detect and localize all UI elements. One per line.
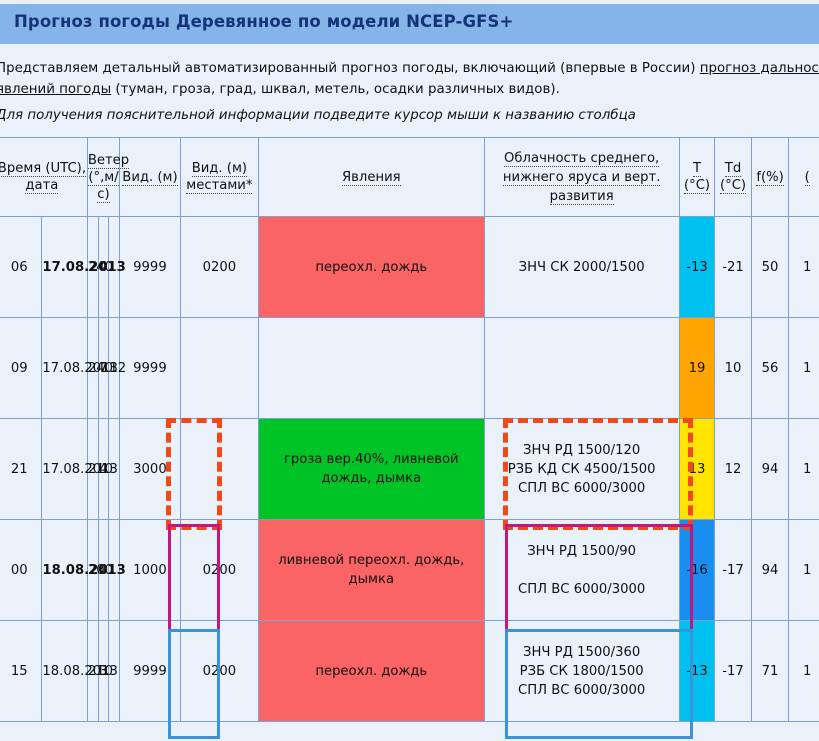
- cell-visibility: 9999: [120, 318, 181, 419]
- cell-phenomena: гроза вер.40%, ливневой дождь, дымка: [259, 419, 485, 520]
- cell-date: 18.08.2013: [42, 621, 87, 722]
- cell-phenomena: [259, 318, 485, 419]
- cell-visibility-places: 0200: [180, 621, 258, 722]
- header-row: Время (UTC), дата Ветер (°,м/с) Вид. (м)…: [0, 138, 819, 217]
- cloud-line: ЗНЧ СК 2000/1500: [485, 258, 679, 277]
- cell-pressure: 1: [789, 217, 819, 318]
- cell-temperature: -13: [679, 217, 714, 318]
- visibility-forecast-link[interactable]: прогноз дальности ви: [700, 61, 819, 76]
- cell-visibility-places: [180, 419, 258, 520]
- cell-cloud: ЗНЧ РД 1500/360РЗБ СК 1800/1500СПЛ ВС 60…: [484, 621, 679, 722]
- cell-phenomena: переохл. дождь: [259, 621, 485, 722]
- cell-humidity: 94: [751, 419, 789, 520]
- cell-wind-speed: 4: [98, 419, 109, 520]
- header-cell-time[interactable]: Время (UTC), дата: [0, 138, 87, 217]
- page-header-bar: Прогноз погоды Деревянное по модели NCEP…: [0, 4, 819, 44]
- cell-phenomena: переохл. дождь: [259, 217, 485, 318]
- cell-dewpoint: 10: [715, 318, 752, 419]
- cell-humidity: 71: [751, 621, 789, 722]
- header-cell-cloud[interactable]: Облачность среднего, нижнего яруса и вер…: [484, 138, 679, 217]
- header-cell-wind[interactable]: Ветер (°,м/с): [87, 138, 119, 217]
- cell-pressure: 1: [789, 419, 819, 520]
- cell-hour: 15: [0, 621, 42, 722]
- cell-pressure: 1: [789, 318, 819, 419]
- cell-hour: 06: [0, 217, 42, 318]
- forecast-table-wrapper: Время (UTC), дата Ветер (°,м/с) Вид. (м)…: [0, 137, 819, 722]
- cell-temperature: -13: [679, 621, 714, 722]
- table-row: 0917.08.201324071299991910561: [0, 318, 819, 419]
- header-cell-phenomena[interactable]: Явления: [259, 138, 485, 217]
- cloud-line: ЗНЧ РД 1500/90: [485, 542, 679, 561]
- cloud-line: ЗНЧ РД 1500/360: [485, 643, 679, 662]
- cloud-line: СПЛ ВС 6000/3000: [485, 681, 679, 700]
- cell-humidity: 56: [751, 318, 789, 419]
- cell-dewpoint: -17: [715, 621, 752, 722]
- cell-visibility-places: 0200: [180, 520, 258, 621]
- cell-dewpoint: -17: [715, 520, 752, 621]
- cell-cloud: ЗНЧ РД 1500/120РЗБ КД СК 4500/1500СПЛ ВС…: [484, 419, 679, 520]
- cell-visibility: 9999: [120, 217, 181, 318]
- cell-hour: 21: [0, 419, 42, 520]
- cell-wind-direction: 240: [87, 217, 98, 318]
- cell-pressure: 1: [789, 621, 819, 722]
- table-row: 1518.08.2013210399990200переохл. дождьЗН…: [0, 621, 819, 722]
- cell-wind-speed: 4: [98, 520, 109, 621]
- cell-visibility-places: [180, 318, 258, 419]
- table-head: Время (UTC), дата Ветер (°,м/с) Вид. (м)…: [0, 138, 819, 217]
- cell-wind-direction: 200: [87, 520, 98, 621]
- cloud-line: ЗНЧ РД 1500/120: [485, 441, 679, 460]
- cell-wind-direction: 210: [87, 419, 98, 520]
- cell-humidity: 50: [751, 217, 789, 318]
- cell-dewpoint: 12: [715, 419, 752, 520]
- table-body: 0617.08.2013240499990200переохл. дождьЗН…: [0, 217, 819, 722]
- header-cell-visibility-places[interactable]: Вид. (м) местами*: [180, 138, 258, 217]
- cell-cloud: ЗНЧ РД 1500/90 СПЛ ВС 6000/3000: [484, 520, 679, 621]
- page-title: Прогноз погоды Деревянное по модели NCEP…: [14, 12, 513, 31]
- cell-visibility: 3000: [120, 419, 181, 520]
- cell-visibility-places: 0200: [180, 217, 258, 318]
- cell-date: 17.08.2013: [42, 318, 87, 419]
- weather-phenomena-link[interactable]: явлений погоды: [0, 82, 111, 97]
- cell-humidity: 94: [751, 520, 789, 621]
- cell-temperature: 19: [679, 318, 714, 419]
- cell-wind-speed: 4: [98, 217, 109, 318]
- cell-date: 17.08.2013: [42, 419, 87, 520]
- page-root: Прогноз погоды Деревянное по модели NCEP…: [0, 0, 819, 741]
- cell-phenomena: ливневой переохл. дождь, дымка: [259, 520, 485, 621]
- cloud-line: РЗБ СК 1800/1500: [485, 662, 679, 681]
- header-cell-temperature[interactable]: T (°С): [679, 138, 714, 217]
- table-row: 2117.08.201321043000гроза вер.40%, ливне…: [0, 419, 819, 520]
- header-cell-pressure[interactable]: (: [789, 138, 819, 217]
- cell-cloud: [484, 318, 679, 419]
- cloud-line: СПЛ ВС 6000/3000: [485, 580, 679, 599]
- column-hint-text: Для получения пояснительной информации п…: [0, 108, 636, 123]
- header-cell-dewpoint[interactable]: Td (°С): [715, 138, 752, 217]
- cell-dewpoint: -21: [715, 217, 752, 318]
- cell-wind-speed: 3: [98, 621, 109, 722]
- forecast-table: Время (UTC), дата Ветер (°,м/с) Вид. (м)…: [0, 137, 819, 722]
- cell-cloud: ЗНЧ СК 2000/1500: [484, 217, 679, 318]
- cell-temperature: 13: [679, 419, 714, 520]
- header-cell-visibility[interactable]: Вид. (м): [120, 138, 181, 217]
- cloud-line: СПЛ ВС 6000/3000: [485, 479, 679, 498]
- cell-pressure: 1: [789, 520, 819, 621]
- cloud-line: РЗБ КД СК 4500/1500: [485, 460, 679, 479]
- cell-hour: 00: [0, 520, 42, 621]
- intro-paragraph: Представляем детальный автоматизированны…: [0, 58, 819, 100]
- cell-wind-speed: 7: [98, 318, 109, 419]
- cell-hour: 09: [0, 318, 42, 419]
- intro-text-1: Представляем детальный автоматизированны…: [0, 61, 700, 76]
- cell-wind-direction: 240: [87, 318, 98, 419]
- cell-visibility: 9999: [120, 621, 181, 722]
- cell-temperature: -16: [679, 520, 714, 621]
- cell-wind-gust: 12: [109, 318, 120, 419]
- cell-date: 18.08.2013: [42, 520, 87, 621]
- cloud-line: [485, 561, 679, 580]
- cell-date: 17.08.2013: [42, 217, 87, 318]
- table-row: 0617.08.2013240499990200переохл. дождьЗН…: [0, 217, 819, 318]
- cell-visibility: 1000: [120, 520, 181, 621]
- table-row: 0018.08.2013200410000200ливневой переохл…: [0, 520, 819, 621]
- cell-wind-direction: 210: [87, 621, 98, 722]
- header-cell-humidity[interactable]: f(%): [751, 138, 789, 217]
- intro-text-2: (туман, гроза, град, шквал, метель, осад…: [111, 82, 560, 97]
